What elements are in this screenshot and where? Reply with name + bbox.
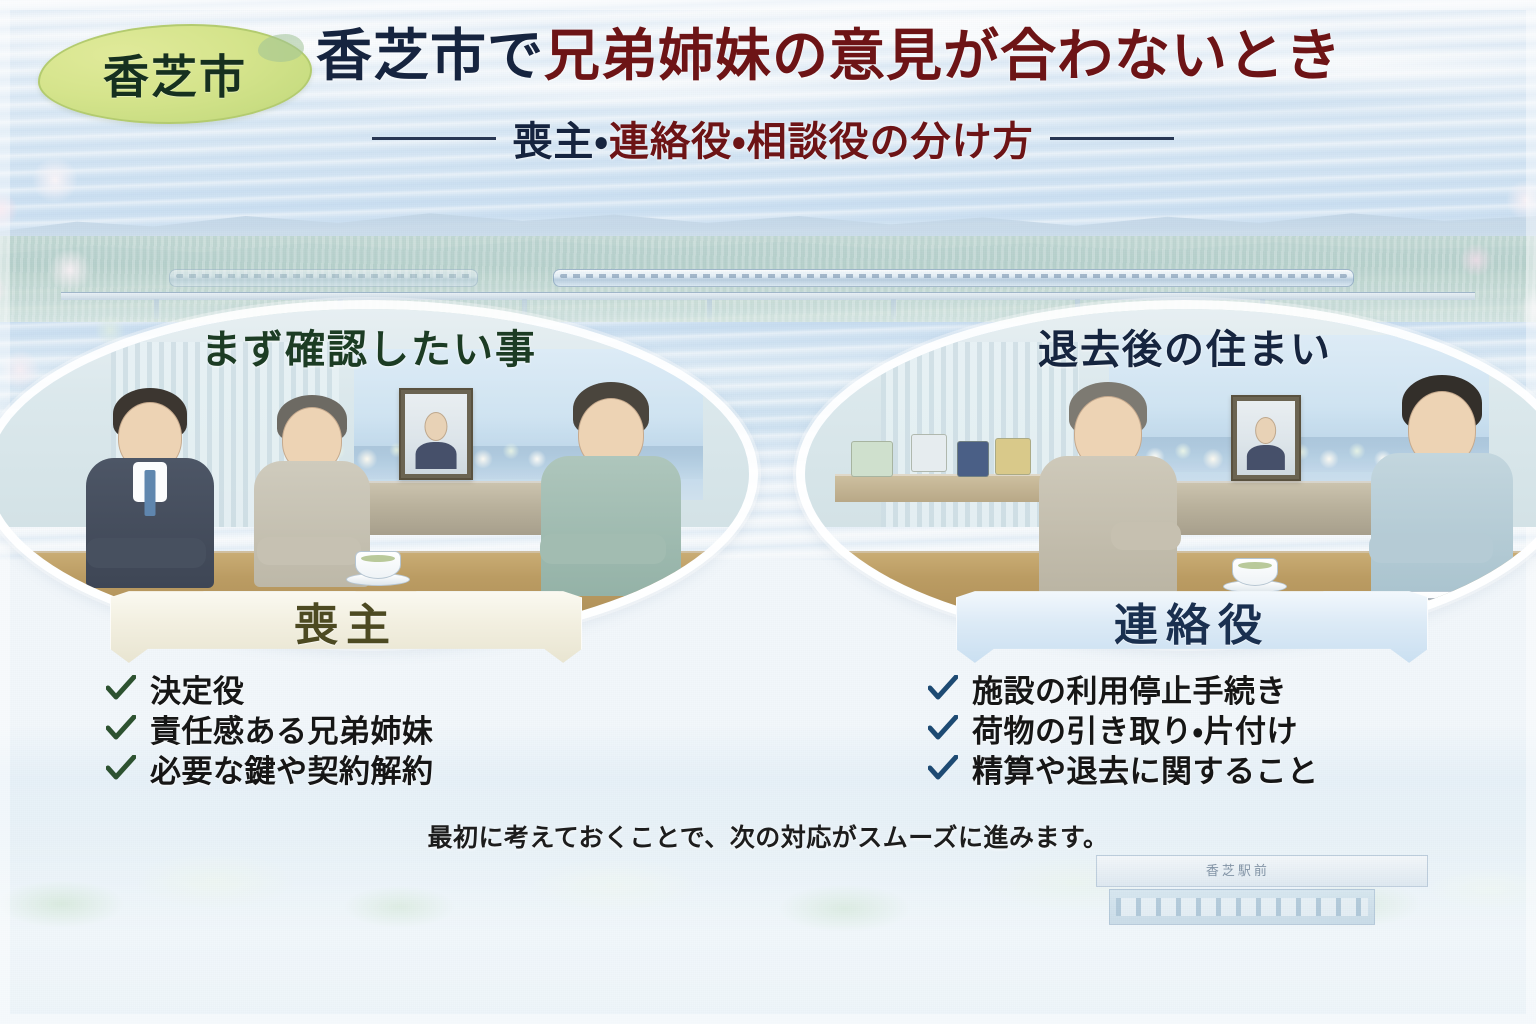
check-icon (106, 715, 136, 741)
storage-box (957, 441, 989, 477)
list-item: 荷物の引き取り・片付け (928, 708, 1488, 748)
ribbon-left-label: 喪主 (294, 589, 398, 653)
bullet-list-left: 決定役 責任感ある兄弟姉妹 必要な鍵や契約解約 (92, 658, 680, 804)
subtitle-rule-left (372, 137, 496, 140)
title-segment-maroon: 兄弟姉妹の意見が合わないとき (544, 26, 1342, 88)
station-building: 香芝駅前 (1096, 855, 1426, 929)
panel-left-heading: まず確認したい事 (0, 309, 749, 383)
page-subtitle: 喪主・連絡役・相談役の分け方 (512, 109, 1033, 167)
storage-box (911, 434, 947, 472)
page-title: 香芝市で兄弟姉妹の意見が合わないとき (316, 28, 1496, 87)
subtitle-row: 喪主・連絡役・相談役の分け方 (250, 112, 1296, 164)
check-icon (928, 715, 958, 741)
station-sign-text: 香芝駅前 (1162, 862, 1314, 877)
bullet-label: 施設の利用停止手続き (972, 666, 1287, 711)
storage-box (995, 438, 1031, 475)
bullet-list-right: 施設の利用停止手続き 荷物の引き取り・片付け 精算や退去に関すること (914, 658, 1502, 804)
teacup (346, 548, 408, 586)
bullet-label: 決定役 (150, 666, 245, 711)
check-icon (928, 675, 958, 701)
list-item: 決定役 (106, 668, 666, 708)
list-item: 責任感ある兄弟姉妹 (106, 708, 666, 748)
panel-right-heading: 退去後の住まい (805, 309, 1536, 383)
bullet-label: 責任感ある兄弟姉妹 (150, 706, 434, 751)
ribbon-left: 喪主 (110, 588, 582, 666)
memorial-portrait (399, 388, 473, 480)
ribbon-right-label: 連絡役 (1114, 589, 1270, 653)
station-facade (1109, 889, 1375, 925)
person-man-polo (536, 382, 686, 622)
list-item: 施設の利用停止手続き (928, 668, 1488, 708)
bullet-label: 荷物の引き取り・片付け (972, 706, 1298, 751)
subtitle-segment-maroon: 連絡役・相談役の分け方 (609, 119, 1034, 164)
footer-note: 最初に考えておくことで、次の対応がスムーズに進みます。 (0, 818, 1536, 854)
list-item: 必要な鍵や契約解約 (106, 748, 666, 788)
memorial-portrait (1231, 395, 1301, 481)
subtitle-rule-right (1050, 137, 1174, 140)
person-man-shirt (1367, 375, 1517, 625)
person-man-suit (80, 388, 220, 618)
list-item: 精算や退去に関すること (928, 748, 1488, 788)
city-badge: 香芝市 (38, 24, 312, 124)
storage-box (851, 441, 893, 477)
panel-right: 退去後の住まい 連絡役 施設の利用停止手続き 荷物の引き取り・片付け (796, 300, 1536, 820)
bullet-label: 精算や退去に関すること (972, 746, 1319, 791)
title-segment-navy: 香芝市で (316, 26, 544, 88)
check-icon (106, 755, 136, 781)
check-icon (928, 755, 958, 781)
poster-canvas: 香芝駅前 香芝市 香芝市で兄弟姉妹の意見が合わないとき 喪主・連絡役・相談役の分… (0, 0, 1536, 1024)
bullet-label: 必要な鍵や契約解約 (150, 746, 434, 791)
train-icon (553, 269, 1354, 287)
teacup (1223, 555, 1285, 593)
panel-left: まず確認したい事 喪主 決定役 責任感ある兄弟姉妹 (0, 300, 740, 820)
header: 香芝市 香芝市で兄弟姉妹の意見が合わないとき 喪主・連絡役・相談役の分け方 (0, 0, 1536, 170)
ribbon-right: 連絡役 (956, 588, 1428, 666)
storage-shelf (835, 474, 1048, 502)
subtitle-segment-navy: 喪主・ (512, 119, 609, 164)
person-elderly-woman (1033, 382, 1183, 622)
city-badge-label: 香芝市 (103, 41, 247, 107)
check-icon (106, 675, 136, 701)
